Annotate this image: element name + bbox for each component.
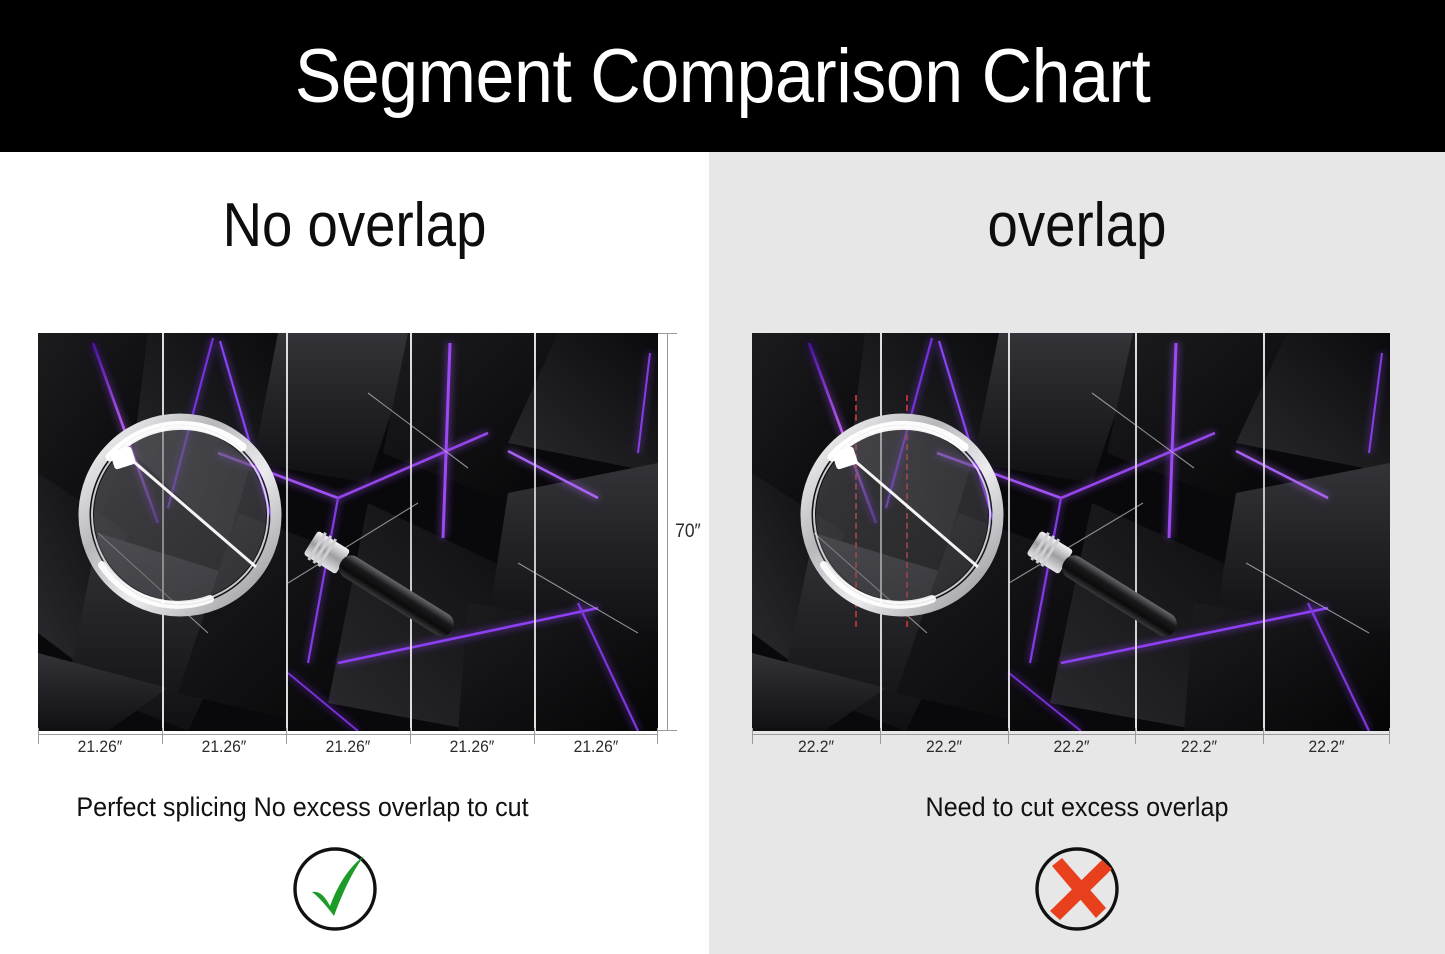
ruler-tick [880,728,881,744]
artwork-no-overlap [38,333,658,731]
artwork-overlap [752,333,1390,731]
magnifier-icon-left [60,415,450,615]
cross-circle-icon [1032,844,1122,934]
segment-width-label: 22.2″ [1013,737,1130,757]
panel-no-overlap: No overlap [0,152,709,954]
ruler-line [752,734,1390,735]
segment-comparison-chart-page: Segment Comparison Chart No overlap [0,0,1445,954]
title-bar: Segment Comparison Chart [0,0,1445,152]
segment-ruler-overlap: 22.2″ 22.2″ 22.2″ 22.2″ 22.2″ [752,734,1390,768]
segment-width-label: 22.2″ [885,737,1003,757]
caption-overlap: Need to cut excess overlap [735,792,1419,823]
height-dimension-no-overlap: 70″ [658,333,700,731]
segment-divider [1263,333,1265,731]
ruler-tick [1263,728,1264,744]
check-circle-icon [290,844,380,934]
dimension-line [667,333,668,731]
segment-ruler-no-overlap: 21.26″ 21.26″ 21.26″ 21.26″ 21.26″ [38,734,658,768]
height-label: 70″ [675,521,701,543]
ruler-tick [410,728,411,744]
segment-width-label: 21.26″ [291,737,405,757]
ruler-tick [1389,728,1390,744]
panel-overlap: overlap [709,152,1445,954]
verdict-badge-fail [1032,844,1122,934]
ruler-tick [286,728,287,744]
ruler-tick [752,728,753,744]
magnifier-icon-right [780,413,1176,617]
dimension-cap-top [658,333,677,334]
panel-heading-no-overlap: No overlap [43,190,667,261]
segment-width-label: 22.2″ [1140,737,1258,757]
segment-width-label: 21.26″ [415,737,529,757]
page-title: Segment Comparison Chart [58,0,1387,152]
segment-width-label: 21.26″ [43,737,157,757]
ruler-tick [1008,728,1009,744]
ruler-tick [534,728,535,744]
ruler-tick [38,728,39,744]
caption-no-overlap: Perfect splicing No excess overlap to cu… [0,792,632,823]
verdict-badge-pass [290,844,380,934]
dimension-cap-bottom [658,730,677,731]
segment-divider [534,333,536,731]
ruler-line [38,734,658,735]
segment-width-label: 22.2″ [757,737,875,757]
segment-width-label: 22.2″ [1268,737,1385,757]
segment-width-label: 21.26″ [539,737,653,757]
segment-width-label: 21.26″ [167,737,281,757]
ruler-tick [162,728,163,744]
panel-heading-overlap: overlap [753,190,1401,261]
ruler-tick [1135,728,1136,744]
